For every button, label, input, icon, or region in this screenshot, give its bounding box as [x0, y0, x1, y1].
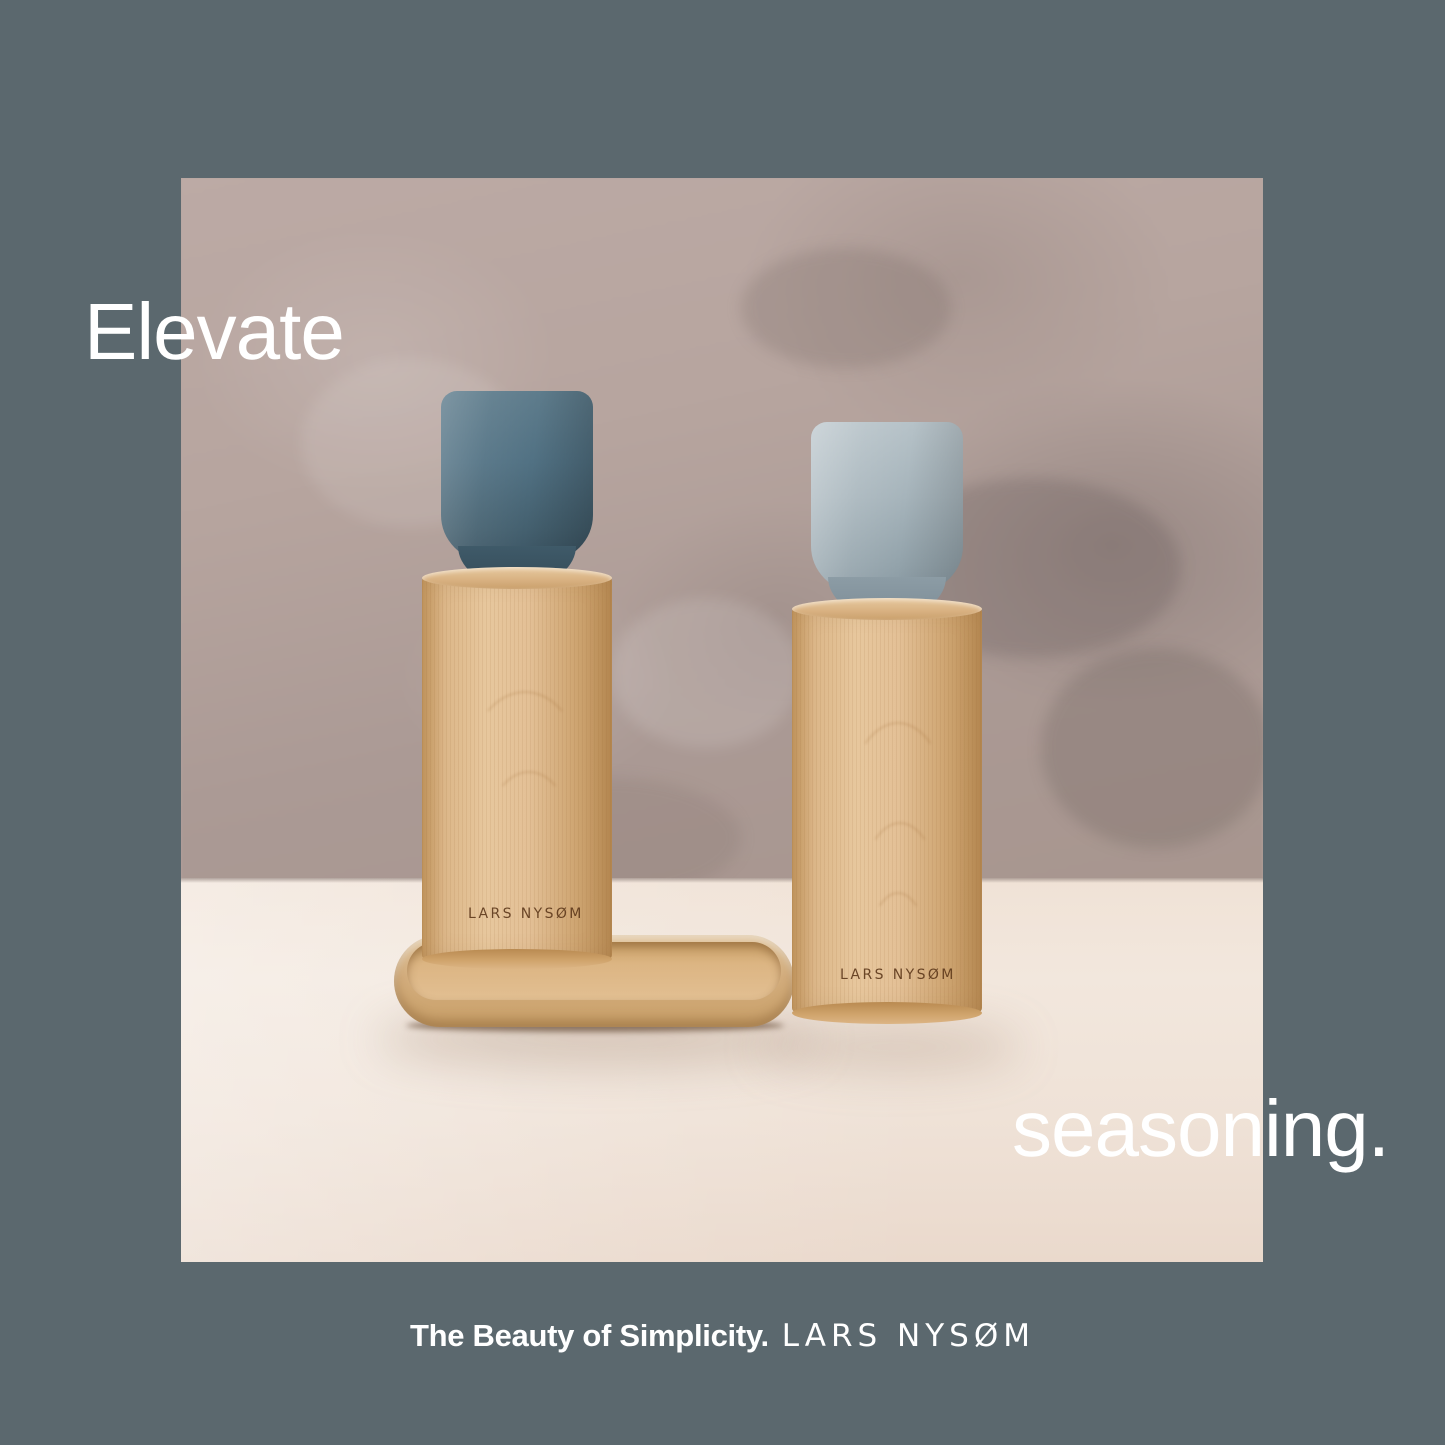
mill-left-wood-top-ellipse [422, 567, 612, 589]
brand-logotype: LARS NYSØM [782, 1318, 1035, 1354]
cap-body [811, 422, 963, 592]
wall-table-horizon [181, 878, 1263, 883]
wood-grain-arc [488, 771, 570, 885]
headline-elevate: Elevate [84, 292, 344, 372]
footer-tagline: The Beauty of Simplicity. [410, 1318, 769, 1354]
mill-left-engraving: LARS NYSØM [468, 906, 584, 922]
mill-left-wood-bottom-ellipse [422, 949, 612, 969]
mill-right-wood-top-ellipse [792, 598, 982, 620]
mill-right: LARS NYSØM [792, 422, 982, 1054]
wood-grain-arc [866, 892, 930, 1026]
headline-seasoning: seasoning. [1012, 1089, 1389, 1169]
wall-texture-blob [741, 248, 951, 368]
poster-frame: LARS NYSØM LARS NYSØM Elevate seasoning.… [0, 0, 1445, 1445]
mill-left: LARS NYSØM [422, 391, 612, 991]
wall-texture-blob [1041, 648, 1263, 848]
mill-right-engraving: LARS NYSØM [840, 967, 956, 983]
mill-left-ceramic-cap [441, 391, 593, 561]
mill-right-ceramic-cap [811, 422, 963, 592]
wall-texture-blob [611, 598, 801, 748]
cap-body [441, 391, 593, 561]
footer: The Beauty of Simplicity. LARS NYSØM [0, 1318, 1445, 1354]
